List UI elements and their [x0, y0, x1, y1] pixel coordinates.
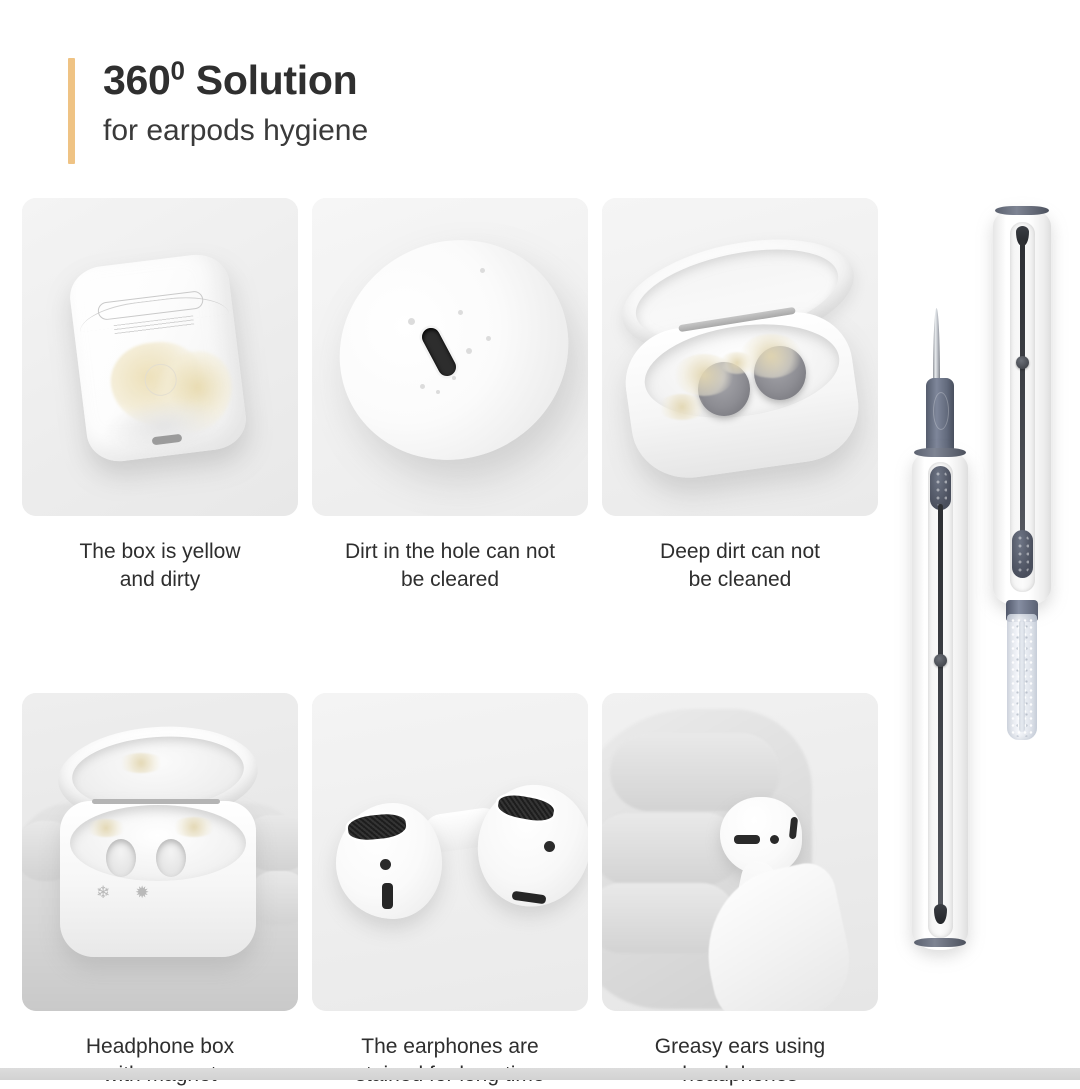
needle-holder: [926, 378, 954, 456]
pen-shaft: [938, 504, 943, 914]
caption-line: be cleared: [320, 566, 580, 594]
tile-caption: Greasy ears using headphones: [602, 1033, 878, 1088]
problem-grid: The box is yellow and dirty Dirt in the …: [22, 198, 890, 1089]
pen-cap-top: [914, 448, 966, 457]
tile-caption: The box is yellow and dirty: [22, 538, 298, 593]
brush-pad-icon: [1012, 530, 1033, 578]
accent-bar: [68, 58, 75, 164]
caption-line: The box is yellow: [30, 538, 290, 566]
photo-tile-port-hole: [312, 198, 588, 516]
page-title-word: Solution: [185, 57, 358, 103]
grid-cell: ❄ ✹ Headphone box with magnet: [22, 693, 298, 1088]
illustration-case-port: [312, 198, 588, 516]
case-marking: ❄ ✹: [96, 883, 159, 903]
pen-cap-bottom: [914, 938, 966, 947]
header-text-block: 3600 Solution for earpods hygiene: [103, 58, 368, 164]
grid-cell: The earphones are stained for long time: [312, 693, 588, 1088]
degree-symbol: 0: [171, 55, 185, 85]
photo-tile-stained-earphones: [312, 693, 588, 1011]
photo-tile-greasy-ears: [602, 693, 878, 1011]
page-subtitle: for earpods hygiene: [103, 114, 368, 147]
page-title: 3600 Solution: [103, 58, 368, 104]
illustration-dirty-case: [22, 198, 298, 516]
cleaning-pen-left: [912, 404, 968, 950]
grid-cell: Deep dirt can not be cleaned: [602, 198, 878, 593]
caption-line: Greasy ears using: [610, 1033, 870, 1061]
caption-line: The earphones are: [320, 1033, 580, 1061]
illustration-earbud-in-hand: [602, 693, 878, 1011]
illustration-hand-holding-case: ❄ ✹: [22, 693, 298, 1011]
photo-tile-headphone-box: ❄ ✹: [22, 693, 298, 1011]
pen-cap-top: [995, 206, 1049, 215]
grid-cell: Greasy ears using headphones: [602, 693, 878, 1088]
cleaning-pen-right: [993, 208, 1051, 742]
photo-tile-deep-dirt: [602, 198, 878, 516]
metal-needle-tip-icon: [933, 308, 940, 388]
tile-caption: Dirt in the hole can not be cleared: [312, 538, 588, 593]
brush-core: [1019, 620, 1025, 732]
tile-caption: Deep dirt can not be cleaned: [602, 538, 878, 593]
grid-cell: Dirt in the hole can not be cleared: [312, 198, 588, 593]
caption-line: Headphone box: [30, 1033, 290, 1061]
caption-line: Dirt in the hole can not: [320, 538, 580, 566]
illustration-stained-earbuds: [312, 693, 588, 1011]
illustration-open-case-dirt: [602, 198, 878, 516]
tile-caption: Headphone box with magnet: [22, 1033, 298, 1088]
pen-node: [1016, 356, 1029, 369]
page-title-number: 360: [103, 57, 171, 103]
pen-shaft: [1020, 238, 1025, 534]
caption-line: and dirty: [30, 566, 290, 594]
pen-node: [934, 654, 947, 667]
tile-caption: The earphones are stained for long time: [312, 1033, 588, 1088]
photo-tile-dirty-case: [22, 198, 298, 516]
bottom-divider-strip: [0, 1068, 1080, 1080]
grid-cell: The box is yellow and dirty: [22, 198, 298, 593]
page-header: 3600 Solution for earpods hygiene: [68, 58, 368, 164]
caption-line: Deep dirt can not: [610, 538, 870, 566]
caption-line: be cleaned: [610, 566, 870, 594]
